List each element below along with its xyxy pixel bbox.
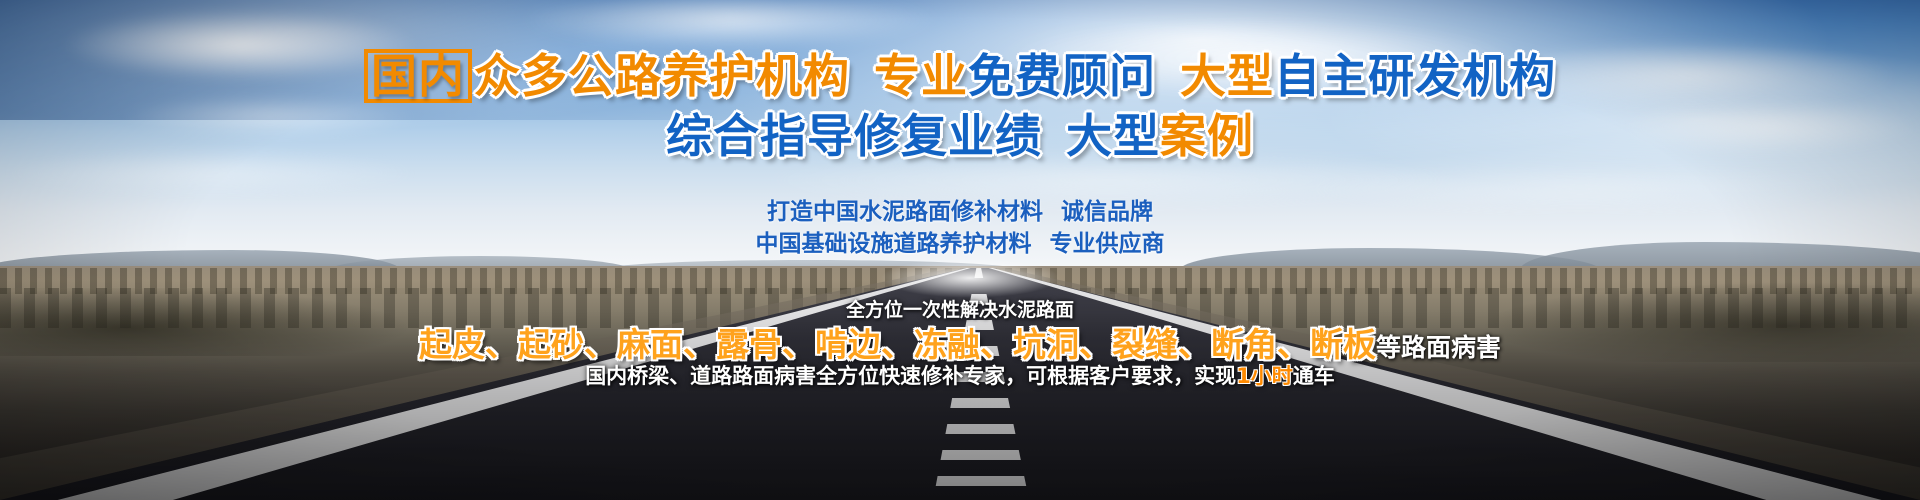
disease-list: 起皮、起砂、麻面、露骨、啃边、冻融、坑洞、裂缝、断角、断板 — [419, 325, 1376, 364]
headline-segment-guidance: 综合指导修复业绩 — [666, 109, 1042, 163]
subtitle-brand-claim: 打造中国水泥路面修补材料 — [767, 199, 1043, 225]
subtitle-infrastructure-claim: 中国基础设施道路养护材料 — [756, 231, 1032, 257]
subtitle-supplier: 专业供应商 — [1050, 231, 1165, 257]
headline-segment-professional: 专业 — [874, 49, 968, 103]
promise-hour-highlight: 1小时 — [1236, 364, 1293, 388]
subtitle-trust-brand: 诚信品牌 — [1061, 199, 1153, 225]
headline-segment-large: 大型 — [1066, 109, 1160, 163]
bottom-promise-line: 国内桥梁、道路路面病害全方位快速修补专家，可根据客户要求，实现1小时通车 — [0, 360, 1920, 390]
banner-content: 国内众多公路养护机构专业免费顾问大型自主研发机构 综合指导修复业绩大型案例 打造… — [0, 0, 1920, 500]
disease-list-line: 起皮、起砂、麻面、露骨、啃边、冻融、坑洞、裂缝、断角、断板等路面病害 — [0, 318, 1920, 366]
headline-segment-free-consult: 免费顾问 — [968, 49, 1156, 103]
headline-segment-orange: 众多公路养护机构 — [474, 49, 850, 103]
headline-segment-rnd-org: 自主研发机构 — [1274, 49, 1556, 103]
subtitle-line-1: 打造中国水泥路面修补材料诚信品牌 — [0, 192, 1920, 226]
headline-segment-cases: 案例 — [1160, 109, 1254, 163]
disease-list-suffix: 等路面病害 — [1376, 333, 1501, 362]
headline-line-1: 国内众多公路养护机构专业免费顾问大型自主研发机构 — [0, 40, 1920, 106]
headline-line-2: 综合指导修复业绩大型案例 — [0, 100, 1920, 166]
subtitle-line-2: 中国基础设施道路养护材料专业供应商 — [0, 224, 1920, 258]
headline-boxed-domestic: 国内 — [364, 49, 472, 103]
headline-segment-large-scale: 大型 — [1180, 49, 1274, 103]
promo-banner: 国内众多公路养护机构专业免费顾问大型自主研发机构 综合指导修复业绩大型案例 打造… — [0, 0, 1920, 500]
promise-text-lead: 国内桥梁、道路路面病害全方位快速修补专家，可根据客户要求，实现 — [585, 364, 1236, 388]
promise-text-tail: 通车 — [1293, 364, 1335, 388]
